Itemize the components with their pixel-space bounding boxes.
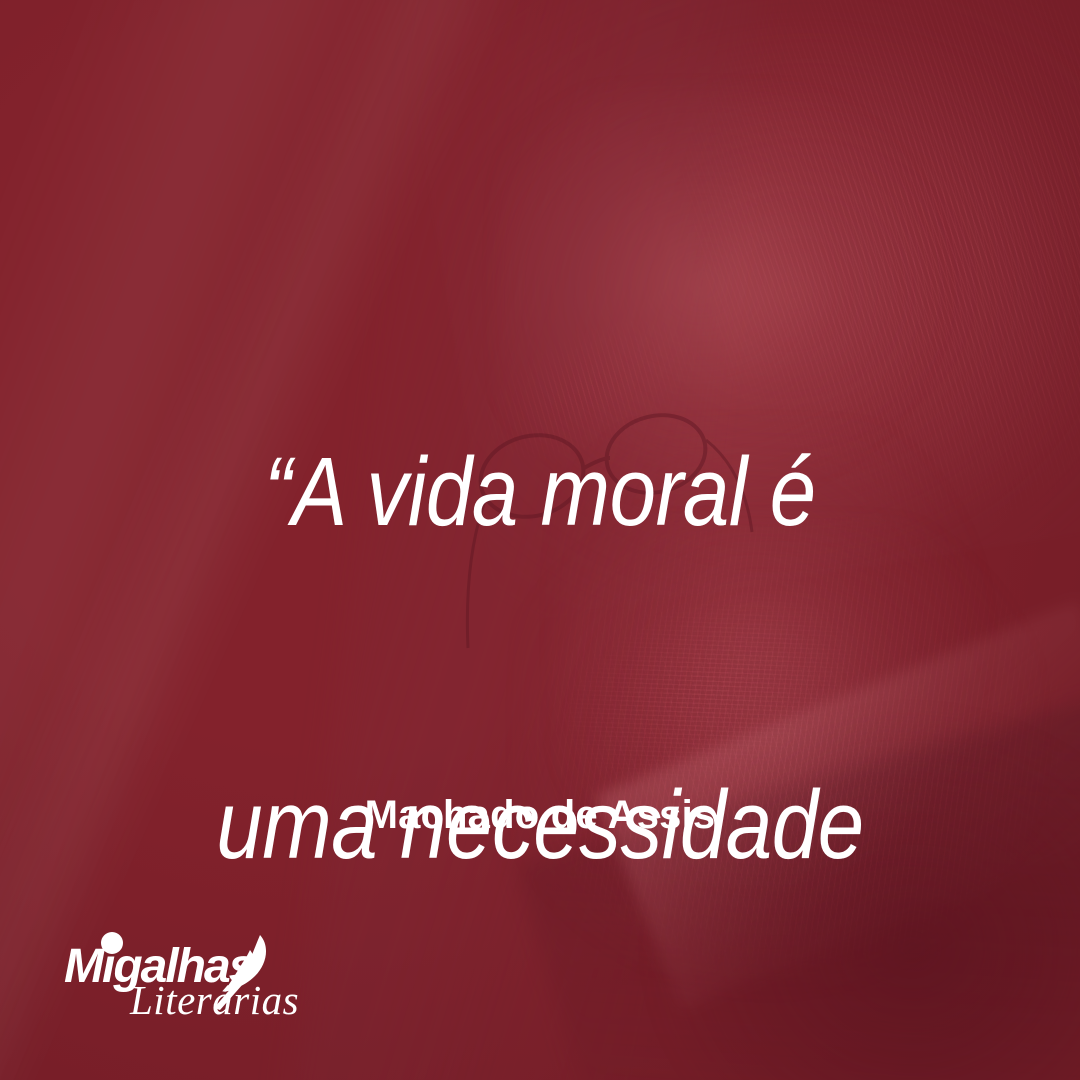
- quote-author: Machado de Assis: [0, 793, 1080, 838]
- quote-card: “A vida moral é uma necessidade do ser p…: [0, 0, 1080, 1080]
- migalhas-literarias-logo[interactable]: Migalhas Literárias: [64, 930, 314, 1018]
- logo-subbrand-text: Literárias: [129, 977, 299, 1023]
- quote-line-1: “A vida moral é: [76, 436, 1005, 547]
